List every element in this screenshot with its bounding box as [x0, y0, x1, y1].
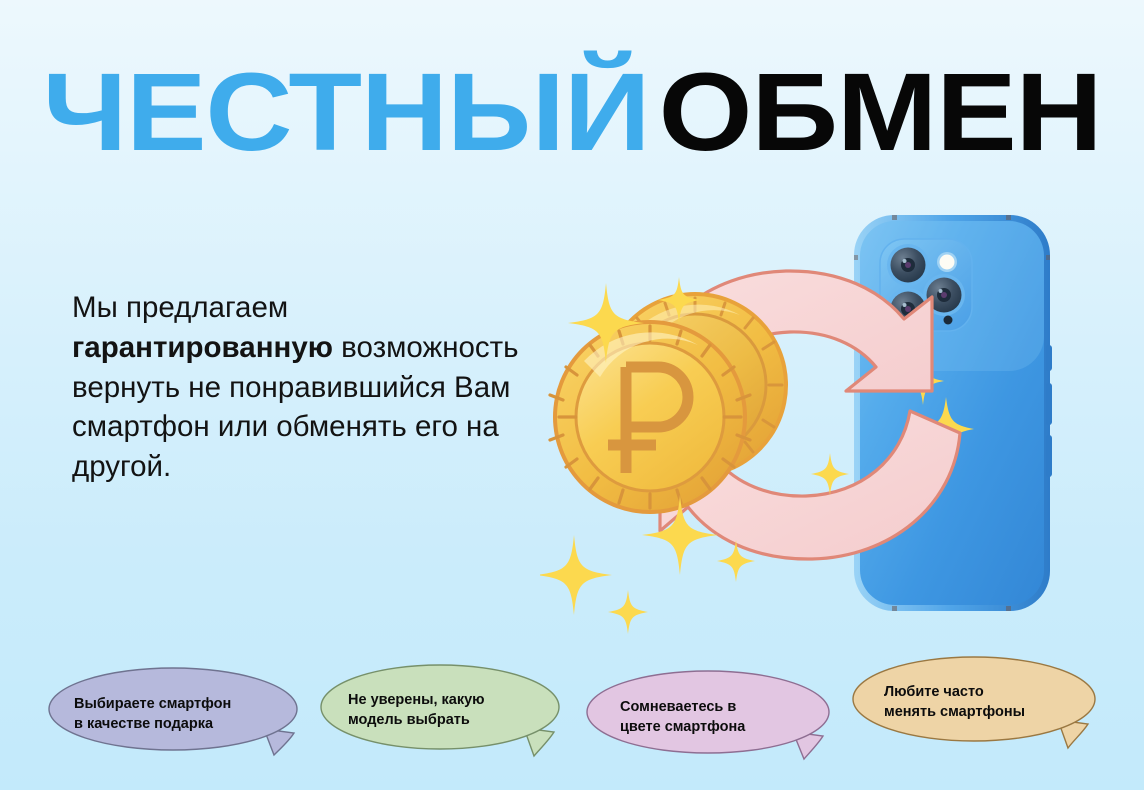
speech-bubble-change-often[interactable]: Любите часто менять смартфоны — [852, 652, 1108, 760]
sparkle-icon — [608, 590, 648, 634]
smartphone-illustration — [852, 215, 1052, 611]
exchange-illustration — [540, 195, 1144, 650]
body-copy: Мы предлагаем гарантированную возможност… — [72, 288, 522, 487]
bubble-label: Любите часто менять смартфоны — [884, 682, 1025, 722]
body-highlight: гарантированную — [72, 331, 333, 364]
speech-bubble-gift[interactable]: Выбираете смартфон в качестве подарка — [48, 663, 312, 771]
page-title: ЧЕСТНЫЙОБМЕН — [0, 58, 1144, 168]
bubble-label: Выбираете смартфон в качестве подарка — [74, 694, 231, 734]
bubble-label: Не уверены, какую модель выбрать — [348, 690, 485, 730]
bubble-label: Сомневаетесь в цвете смартфона — [620, 697, 745, 737]
title-word-chestny: ЧЕСТНЫЙ — [43, 52, 650, 175]
sparkle-icon — [540, 535, 612, 615]
speech-bubble-model[interactable]: Не уверены, какую модель выбрать — [320, 660, 574, 768]
title-word-obmen: ОБМЕН — [659, 52, 1102, 175]
speech-bubble-color[interactable]: Сомневаетесь в цвете смартфона — [586, 667, 842, 773]
promo-poster: ЧЕСТНЫЙОБМЕН Мы предлагаем гарантированн… — [0, 0, 1144, 790]
body-line-4: смартфон или обменять — [72, 410, 407, 443]
body-line-1: Мы предлагаем — [72, 291, 288, 324]
body-line-3: не понравившийся Вам — [188, 371, 510, 404]
